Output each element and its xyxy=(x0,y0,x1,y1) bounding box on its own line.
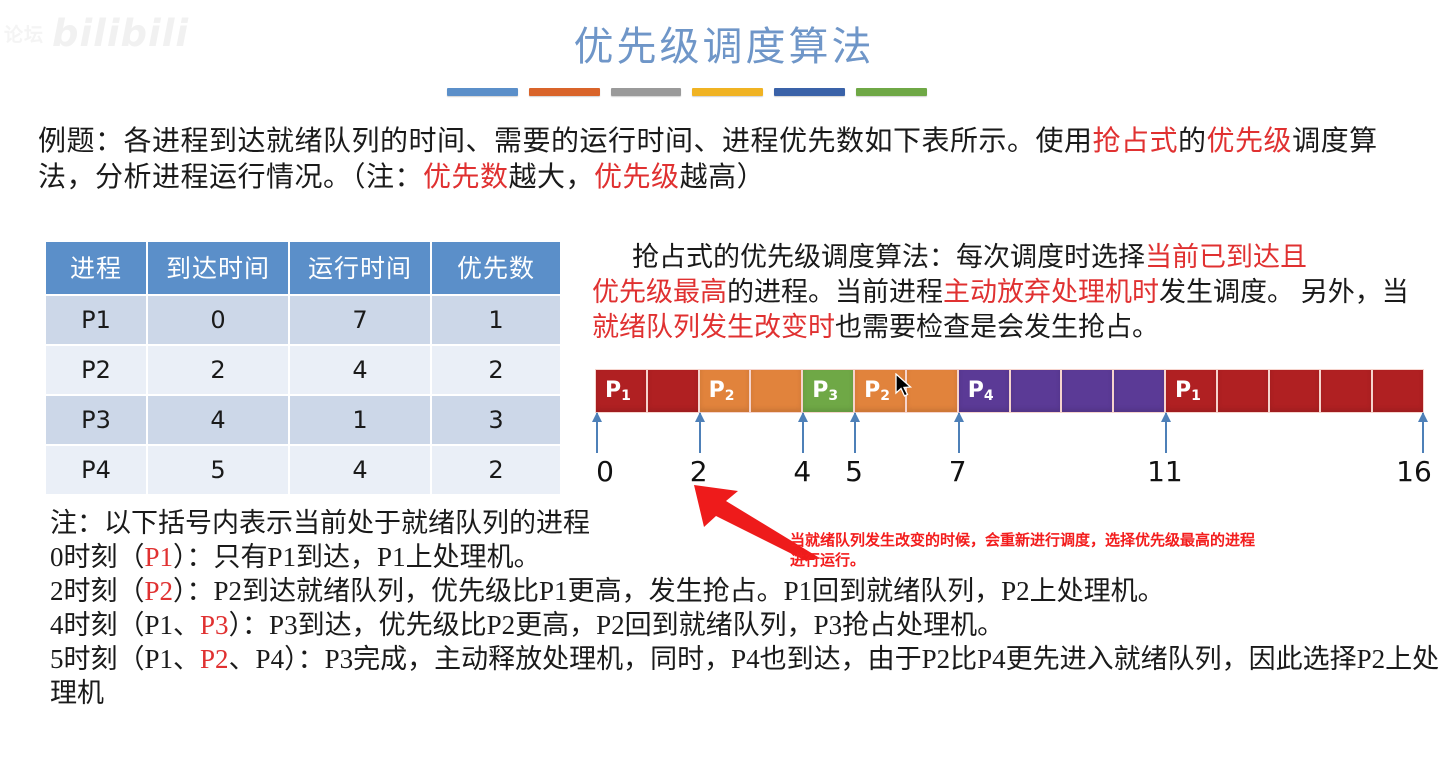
explain-line-2: 优先级最高的进程。当前进程主动放弃处理机时发生调度。 xyxy=(592,277,1294,307)
note-line-0: 注：以下括号内表示当前处于就绪队列的进程 xyxy=(50,506,1440,540)
cell-runtime: 4 xyxy=(290,446,430,494)
explain-2b: 发生调度。 xyxy=(1159,277,1294,307)
cell-process: P4 xyxy=(46,446,146,494)
note-4a: 5时刻（P1、 xyxy=(50,644,200,674)
rule-bar-4 xyxy=(692,88,763,96)
title-decor-rule xyxy=(447,88,927,97)
cell-priority: 2 xyxy=(432,346,560,394)
note-3a: 4时刻（P1、 xyxy=(50,610,200,640)
note-line-3: 4时刻（P1、P3）：P3到达，优先级比P2更高，P2回到就绪队列，P3抢占处理… xyxy=(50,608,1440,642)
gantt-cell xyxy=(1010,369,1062,413)
cell-process: P2 xyxy=(46,346,146,394)
explain-2-highlight-a: 优先级最高 xyxy=(592,277,727,307)
explain-3a: 另外，当 xyxy=(1301,277,1409,307)
axis-tick-mark xyxy=(854,413,856,453)
explanation-notes: 注：以下括号内表示当前处于就绪队列的进程 0时刻（P1）：只有P1到达，P1上处… xyxy=(50,506,1440,710)
gantt-segment-p2-1: P2 xyxy=(699,369,803,413)
gantt-chart: P1P2P3P2P4P1 xyxy=(595,369,1424,413)
gantt-cell xyxy=(647,369,699,413)
intro-highlight-priority-number: 优先数 xyxy=(423,162,509,193)
gantt-segment-index: 1 xyxy=(621,388,631,404)
rule-bar-1 xyxy=(447,88,518,96)
axis-tick-mark xyxy=(699,413,701,453)
intro-part-2: 的 xyxy=(1178,126,1207,157)
note-2-highlight: P2 xyxy=(145,576,174,606)
note-2b: ）：P2到达就绪队列，优先级比P1更高，发生抢占。P1回到就绪队列，P2上处理机… xyxy=(173,576,1165,606)
axis-tick-label: 4 xyxy=(793,455,811,488)
gantt-cell: P4 xyxy=(958,369,1010,413)
axis-tick-label: 5 xyxy=(845,455,863,488)
gantt-segment-label: P1 xyxy=(1175,378,1201,404)
cell-process: P1 xyxy=(46,296,146,344)
axis-tick-mark xyxy=(596,413,598,453)
note-line-4: 5时刻（P1、P2、P4）：P3完成，主动释放处理机，同时，P4也到达，由于P2… xyxy=(50,642,1440,710)
axis-tick-mark xyxy=(1165,413,1167,453)
col-header-run-time: 运行时间 xyxy=(290,242,430,294)
table-row: P3 4 1 3 xyxy=(46,396,560,444)
note-3-highlight: P3 xyxy=(200,610,229,640)
note-1b: ）：只有P1到达，P1上处理机。 xyxy=(173,542,541,572)
note-line-1: 0时刻（P1）：只有P1到达，P1上处理机。 xyxy=(50,540,1440,574)
note-1-highlight: P1 xyxy=(145,542,174,572)
intro-part-5: 越高） xyxy=(680,162,766,193)
axis-tick-mark xyxy=(1422,413,1424,453)
cell-runtime: 7 xyxy=(290,296,430,344)
intro-part-1: 例题：各进程到达就绪队列的时间、需要的运行时间、进程优先数如下表所示。使用 xyxy=(38,126,1093,157)
table-row: P4 5 4 2 xyxy=(46,446,560,494)
rule-bar-2 xyxy=(529,88,600,96)
table-row: P1 0 7 1 xyxy=(46,296,560,344)
mouse-cursor-icon xyxy=(894,373,914,399)
explain-2a: 的进程。当前进程 xyxy=(727,277,943,307)
gantt-segment-p1-0: P1 xyxy=(595,369,699,413)
explain-1a: 抢占式的优先级调度算法：每次调度时选择 xyxy=(632,242,1145,272)
cell-runtime: 4 xyxy=(290,346,430,394)
gantt-segment-index: 1 xyxy=(1191,388,1201,404)
note-2a: 2时刻（ xyxy=(50,576,145,606)
gantt-segment-index: 3 xyxy=(828,388,838,404)
intro-highlight-preemptive: 抢占式 xyxy=(1093,126,1179,157)
gantt-segment-label: P1 xyxy=(605,378,631,404)
cell-arrival: 2 xyxy=(148,346,288,394)
axis-tick-mark xyxy=(802,413,804,453)
gantt-cell: P3 xyxy=(802,369,854,413)
gantt-segment-p4-4: P4 xyxy=(958,369,1165,413)
cell-process: P3 xyxy=(46,396,146,444)
gantt-cell xyxy=(1320,369,1372,413)
cell-arrival: 0 xyxy=(148,296,288,344)
algorithm-explanation: 抢占式的优先级调度算法：每次调度时选择当前已到达且 优先级最高的进程。当前进程主… xyxy=(592,240,1420,345)
problem-statement: 例题：各进程到达就绪队列的时间、需要的运行时间、进程优先数如下表所示。使用抢占式… xyxy=(38,124,1413,196)
axis-tick-label: 2 xyxy=(690,455,708,488)
note-4b: 、P4）：P3完成，主动释放处理机，同时，P4也到达，由于P2比P4更先进入就绪… xyxy=(229,644,1249,674)
axis-tick-label: 11 xyxy=(1147,455,1183,488)
intro-part-4: 越大， xyxy=(509,162,595,193)
rule-bar-5 xyxy=(774,88,845,96)
intro-highlight-priority-1: 优先级 xyxy=(1207,126,1293,157)
gantt-segment-index: 2 xyxy=(725,388,735,404)
gantt-time-axis: 024571116 xyxy=(595,413,1424,483)
axis-tick-label: 16 xyxy=(1396,455,1432,488)
note-4-highlight: P2 xyxy=(200,644,229,674)
table-row: P2 2 4 2 xyxy=(46,346,560,394)
gantt-cell xyxy=(1269,369,1321,413)
note-3b: ）：P3到达，优先级比P2更高，P2回到就绪队列，P3抢占处理机。 xyxy=(229,610,1005,640)
gantt-segment-label: P3 xyxy=(812,378,838,404)
table-header-row: 进程 到达时间 运行时间 优先数 xyxy=(46,242,560,294)
gantt-cell: P1 xyxy=(1165,369,1217,413)
col-header-priority: 优先数 xyxy=(432,242,560,294)
note-1a: 0时刻（ xyxy=(50,542,145,572)
gantt-segment-p1-5: P1 xyxy=(1165,369,1424,413)
explain-1-highlight: 当前已到达且 xyxy=(1145,242,1307,272)
gantt-cell xyxy=(1113,369,1165,413)
explain-line-1: 抢占式的优先级调度算法：每次调度时选择当前已到达且 xyxy=(592,240,1420,275)
gantt-segment-p3-2: P3 xyxy=(802,369,854,413)
gantt-cell: P1 xyxy=(595,369,647,413)
cell-priority: 1 xyxy=(432,296,560,344)
rule-bar-6 xyxy=(856,88,927,96)
gantt-cell xyxy=(1217,369,1269,413)
col-header-arrival-time: 到达时间 xyxy=(148,242,288,294)
gantt-segment-label: P2 xyxy=(709,378,735,404)
explain-3b: 也需要检查是会发生抢占。 xyxy=(835,312,1159,342)
gantt-segment-label: P2 xyxy=(864,378,890,404)
axis-tick-label: 0 xyxy=(596,455,614,488)
col-header-process: 进程 xyxy=(46,242,146,294)
axis-tick-mark xyxy=(958,413,960,453)
cell-priority: 3 xyxy=(432,396,560,444)
gantt-cell xyxy=(1061,369,1113,413)
cell-arrival: 4 xyxy=(148,396,288,444)
gantt-cell xyxy=(1372,369,1424,413)
cell-arrival: 5 xyxy=(148,446,288,494)
process-table: 进程 到达时间 运行时间 优先数 P1 0 7 1 P2 2 4 2 P3 4 … xyxy=(44,240,562,496)
gantt-cell: P2 xyxy=(699,369,751,413)
page-title: 优先级调度算法 xyxy=(0,14,1448,72)
rule-bar-3 xyxy=(611,88,682,96)
explain-3-highlight: 就绪队列发生改变时 xyxy=(592,312,835,342)
gantt-segment-index: 2 xyxy=(880,388,890,404)
axis-tick-label: 7 xyxy=(949,455,967,488)
gantt-cell xyxy=(750,369,802,413)
note-line-2: 2时刻（P2）：P2到达就绪队列，优先级比P1更高，发生抢占。P1回到就绪队列，… xyxy=(50,574,1440,608)
intro-highlight-priority-2: 优先级 xyxy=(594,162,680,193)
cell-priority: 2 xyxy=(432,446,560,494)
explain-2-highlight-b: 主动放弃处理机时 xyxy=(943,277,1159,307)
gantt-segment-label: P4 xyxy=(968,378,994,404)
cell-runtime: 1 xyxy=(290,396,430,444)
gantt-segment-index: 4 xyxy=(984,388,994,404)
